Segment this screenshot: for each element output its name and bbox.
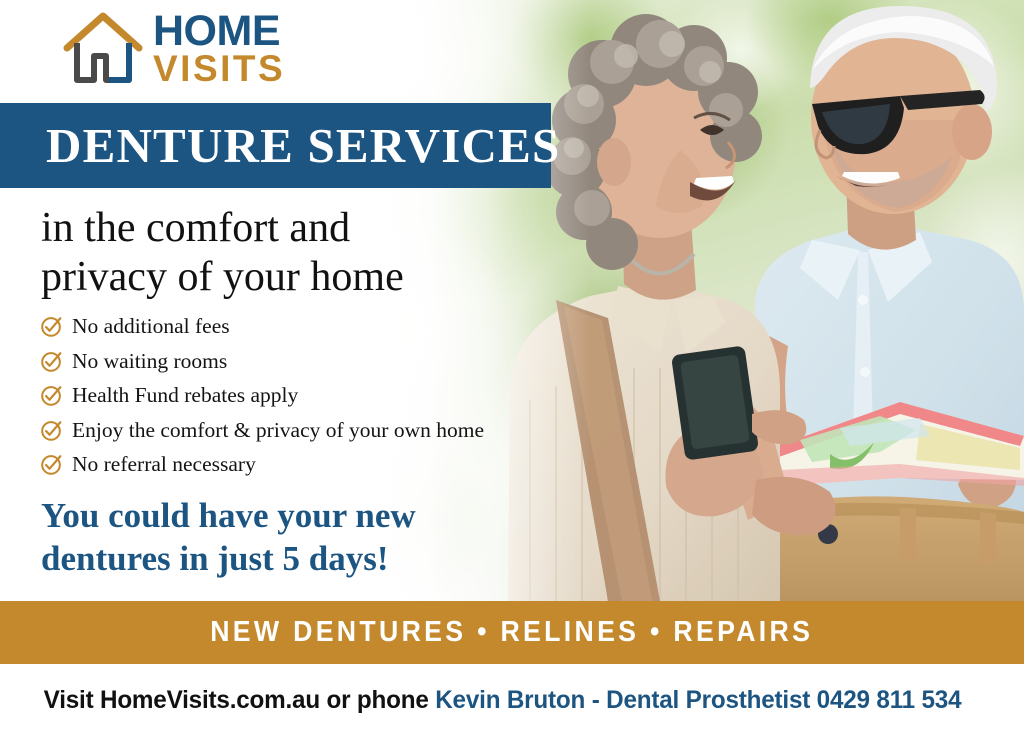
check-circle-icon xyxy=(40,419,63,442)
list-item-label: No referral necessary xyxy=(72,452,256,477)
check-circle-icon xyxy=(40,350,63,373)
list-item: No additional fees xyxy=(40,314,560,339)
list-item: Health Fund rebates apply xyxy=(40,383,560,408)
services-banner: NEW DENTURES • RELINES • REPAIRS xyxy=(0,601,1024,664)
subheadline-line-2: privacy of your home xyxy=(41,253,511,302)
services-banner-text: NEW DENTURES • RELINES • REPAIRS xyxy=(210,616,813,649)
subheadline: in the comfort and privacy of your home xyxy=(41,204,511,302)
cta-line-1: You could have your new xyxy=(41,495,541,538)
contact-line: Visit HomeVisits.com.au or phone Kevin B… xyxy=(0,686,961,715)
headline-title: DENTURE SERVICES xyxy=(0,117,560,174)
footer-visit-text: Visit HomeVisits.com.au or phone xyxy=(44,686,436,714)
list-item-label: No waiting rooms xyxy=(72,349,227,374)
contact-footer: Visit HomeVisits.com.au or phone Kevin B… xyxy=(0,664,1024,736)
brand-name-home: HOME xyxy=(153,12,285,52)
check-circle-icon xyxy=(40,315,63,338)
subheadline-line-1: in the comfort and xyxy=(41,204,511,253)
list-item-label: Health Fund rebates apply xyxy=(72,383,298,408)
benefits-checklist: No additional fees No waiting rooms Heal… xyxy=(40,314,560,487)
house-logo-icon xyxy=(62,8,144,90)
list-item: No referral necessary xyxy=(40,452,560,477)
check-circle-icon xyxy=(40,384,63,407)
advertisement-flyer: HOME VISITS DENTURE SERVICES in the comf… xyxy=(0,0,1024,736)
list-item-label: Enjoy the comfort & privacy of your own … xyxy=(72,418,484,443)
list-item-label: No additional fees xyxy=(72,314,230,339)
brand-name-visits: VISITS xyxy=(153,52,285,86)
brand-logo[interactable]: HOME VISITS xyxy=(62,8,285,90)
check-circle-icon xyxy=(40,453,63,476)
footer-contact-text[interactable]: Kevin Bruton - Dental Prosthetist 0429 8… xyxy=(435,686,961,714)
list-item: No waiting rooms xyxy=(40,349,560,374)
brand-wordmark: HOME VISITS xyxy=(153,12,285,86)
list-item: Enjoy the comfort & privacy of your own … xyxy=(40,418,560,443)
cta-line-2: dentures in just 5 days! xyxy=(41,538,541,581)
headline-banner: DENTURE SERVICES xyxy=(0,103,551,188)
cta-message: You could have your new dentures in just… xyxy=(41,495,541,580)
